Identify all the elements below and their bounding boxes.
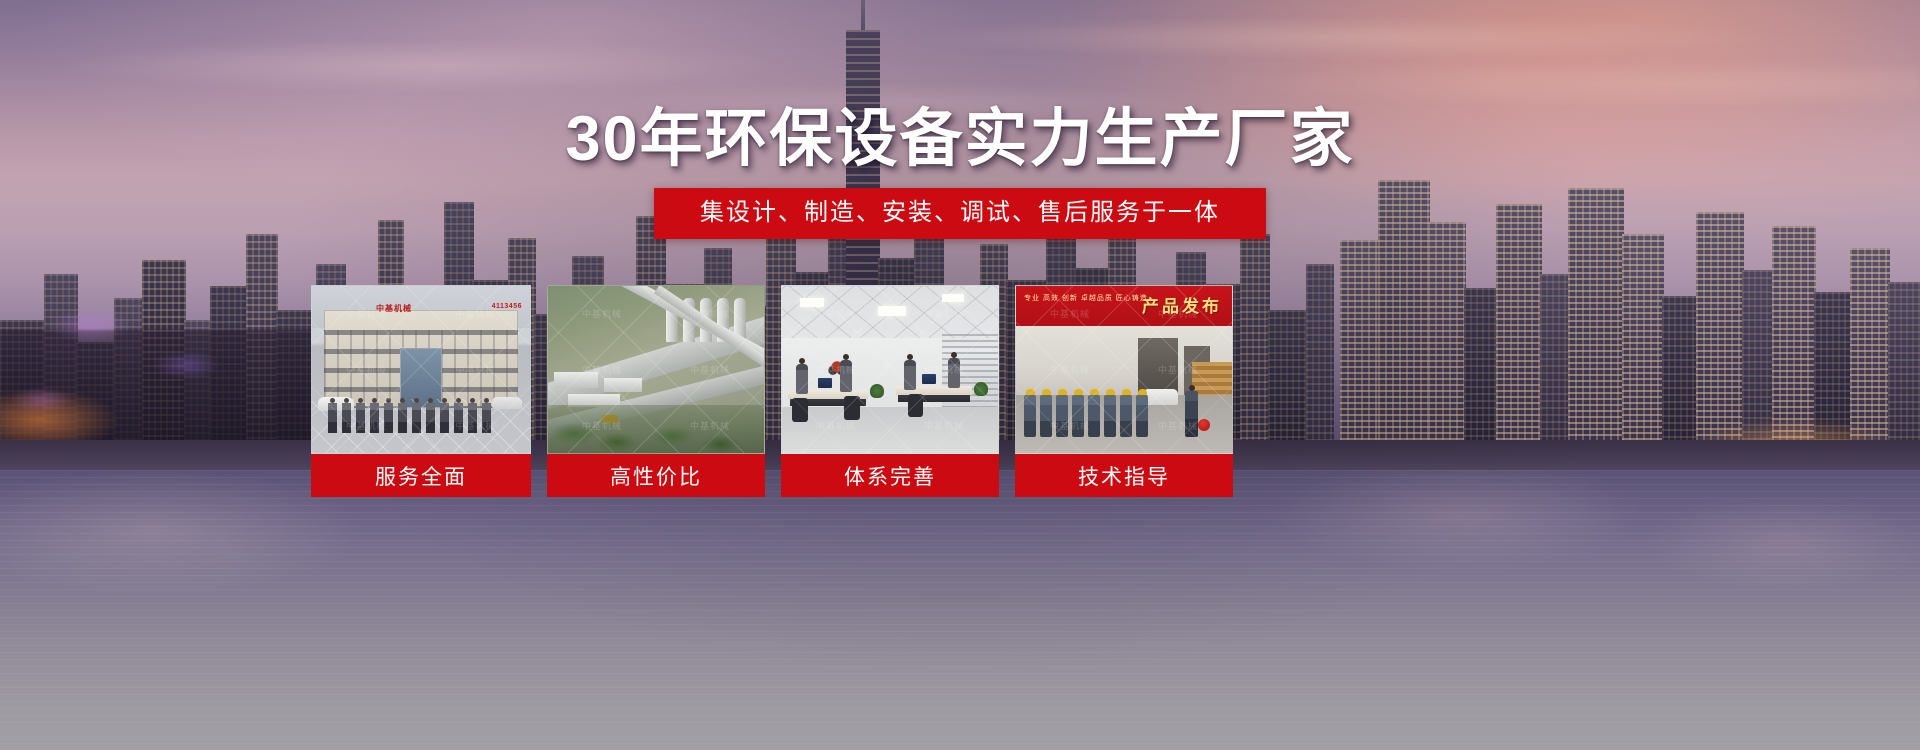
feature-card-service[interactable]: 中基机械 4113456 中基机械中基机械 中基机械中基机械 中基机械中基机械	[311, 285, 531, 495]
photo-office-interior-meeting: 中基机械中基机械 中基机械中基机械 中基机械中基机械	[781, 285, 999, 454]
feature-card-label: 服务全面	[311, 454, 531, 497]
hero-banner: 30年环保设备实力生产厂家 集设计、制造、安装、调试、售后服务于一体 中基机械 …	[0, 0, 1920, 750]
feature-card-list: 中基机械 4113456 中基机械中基机械 中基机械中基机械 中基机械中基机械	[311, 285, 1564, 495]
feature-card-technical[interactable]: 专业 高效 创新 卓越品质 匠心铸造 产品发布	[1015, 285, 1233, 495]
banner-content: 30年环保设备实力生产厂家 集设计、制造、安装、调试、售后服务于一体 中基机械 …	[0, 0, 1920, 750]
photo-banner-text: 产品发布	[1142, 292, 1222, 317]
feature-card-label: 技术指导	[1015, 454, 1233, 497]
feature-card-label: 高性价比	[547, 454, 765, 497]
feature-card-system[interactable]: 中基机械中基机械 中基机械中基机械 中基机械中基机械 体系完善	[781, 285, 999, 495]
banner-subtitle: 集设计、制造、安装、调试、售后服务于一体	[654, 188, 1266, 239]
banner-headline: 30年环保设备实力生产厂家	[0, 104, 1920, 175]
photo-phone-text: 4113456	[492, 303, 522, 310]
photo-sign-text: 中基机械	[376, 303, 412, 314]
photo-industrial-plant-aerial: 中基机械中基机械 中基机械中基机械 中基机械中基机械	[547, 285, 765, 454]
photo-banner-side-text: 专业 高效 创新 卓越品质 匠心铸造	[1024, 294, 1148, 305]
photo-factory-workers: 专业 高效 创新 卓越品质 匠心铸造 产品发布	[1015, 285, 1233, 454]
photo-company-office-building: 中基机械 4113456 中基机械中基机械 中基机械中基机械 中基机械中基机械	[311, 285, 531, 454]
feature-card-label: 体系完善	[781, 454, 999, 497]
banner-subtitle-wrap: 集设计、制造、安装、调试、售后服务于一体	[0, 188, 1920, 239]
feature-card-value[interactable]: 中基机械中基机械 中基机械中基机械 中基机械中基机械 高性价比	[547, 285, 765, 495]
